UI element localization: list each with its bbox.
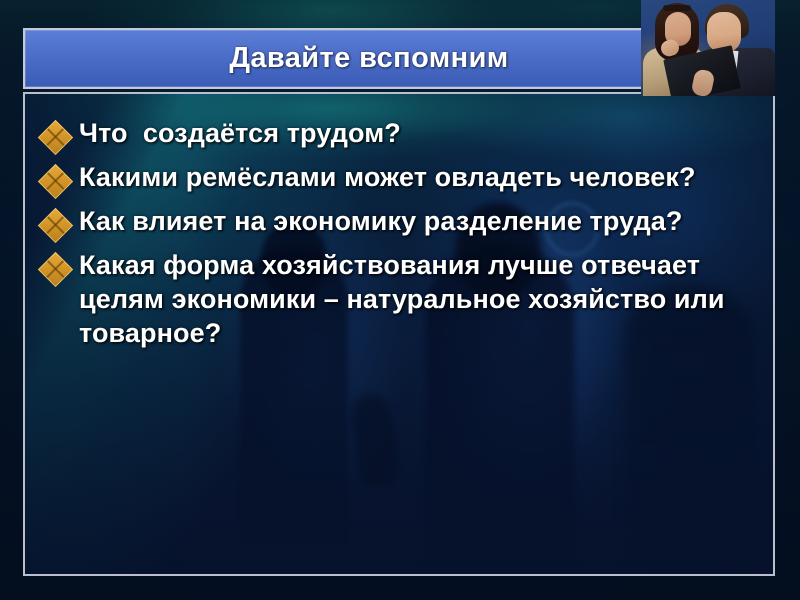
bullet-text: Что создаётся трудом? bbox=[79, 116, 773, 150]
photo-shading-overlay bbox=[641, 0, 775, 96]
people-with-folder-photo bbox=[641, 0, 775, 96]
list-item: Какая форма хозяйствования лучше отвечае… bbox=[33, 248, 773, 350]
slide-content-box: Что создаётся трудом? Какими ремёслами м… bbox=[23, 92, 775, 576]
slide: Давайте вспомним Что создаётся трудом? К… bbox=[0, 0, 800, 600]
gold-diamond-bullet-icon bbox=[33, 210, 79, 244]
list-item: Что создаётся трудом? bbox=[33, 116, 773, 156]
bullet-text: Какими ремёслами может овладеть человек? bbox=[79, 160, 773, 194]
bullet-text: Какая форма хозяйствования лучше отвечае… bbox=[79, 248, 773, 350]
gold-diamond-bullet-icon bbox=[33, 122, 79, 156]
list-item: Какими ремёслами может овладеть человек? bbox=[33, 160, 773, 200]
gold-diamond-bullet-icon bbox=[33, 254, 79, 288]
gold-diamond-bullet-icon bbox=[33, 166, 79, 200]
bullet-text: Как влияет на экономику разделение труда… bbox=[79, 204, 773, 238]
list-item: Как влияет на экономику разделение труда… bbox=[33, 204, 773, 244]
bullet-list: Что создаётся трудом? Какими ремёслами м… bbox=[33, 116, 773, 354]
